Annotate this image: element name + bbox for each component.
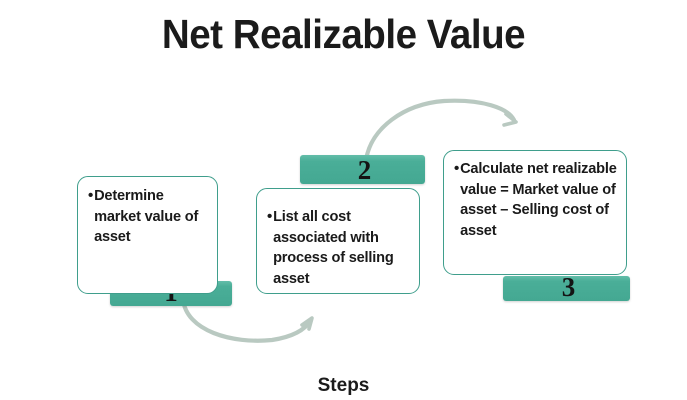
page-title: Net Realizable Value	[21, 10, 667, 58]
step-box-3: • Calculate net realizable value = Marke…	[443, 150, 627, 275]
step-3-bullet-line: • Calculate net realizable value = Marke…	[454, 159, 620, 241]
bullet-icon: •	[88, 186, 93, 207]
step-2-text: List all cost associated with process of…	[273, 207, 413, 289]
axis-label-steps: Steps	[0, 374, 687, 398]
bullet-icon: •	[454, 159, 459, 180]
step-number-tab-3: 3	[503, 276, 630, 301]
step-box-2: • List all cost associated with process …	[256, 188, 420, 294]
step-box-1: • Determine market value of asset	[77, 176, 218, 294]
step-1-text: Determine market value of asset	[94, 186, 211, 248]
diagram-canvas: Net Realizable Value 1 2 3 • Determine m…	[0, 0, 687, 400]
step-3-text: Calculate net realizable value = Market …	[460, 159, 620, 241]
step-box-3-body: • Calculate net realizable value = Marke…	[444, 151, 626, 247]
step-box-1-body: • Determine market value of asset	[78, 177, 217, 254]
step-number-3: 3	[562, 274, 576, 301]
step-number-2: 2	[358, 157, 372, 184]
step-1-bullet-line: • Determine market value of asset	[88, 186, 211, 248]
bullet-icon: •	[267, 207, 272, 228]
step-box-2-body: • List all cost associated with process …	[257, 189, 419, 295]
step-2-bullet-line: • List all cost associated with process …	[267, 207, 413, 289]
step-number-tab-2: 2	[300, 155, 425, 184]
